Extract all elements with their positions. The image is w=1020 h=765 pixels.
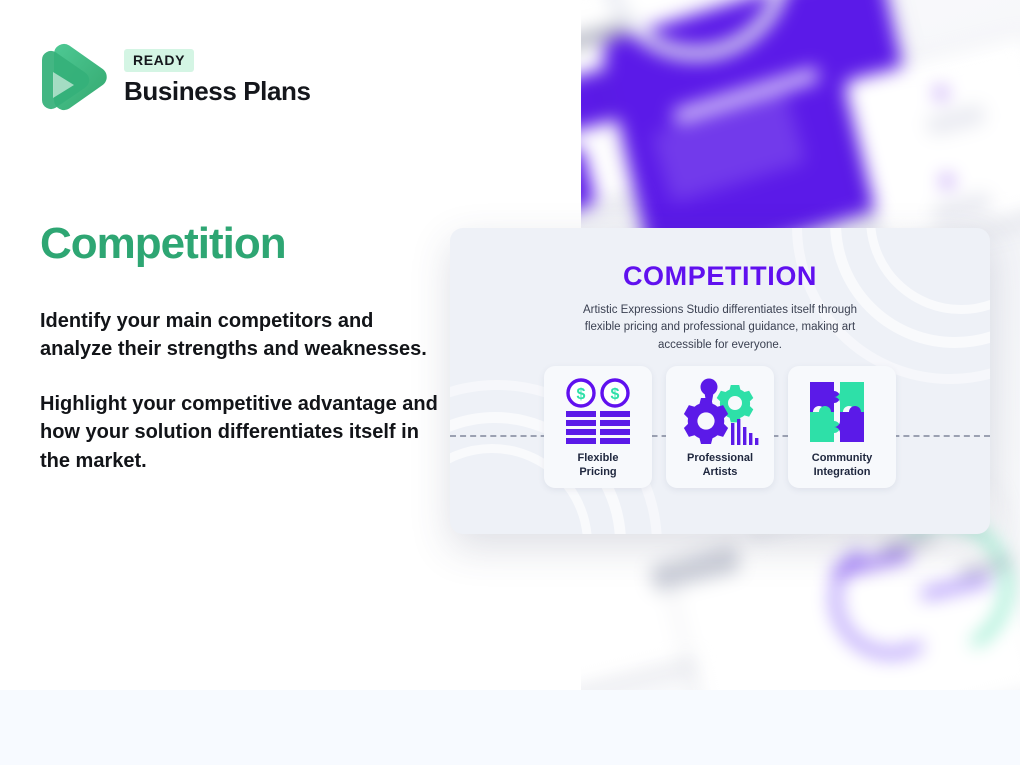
- page-title: Competition: [40, 219, 286, 269]
- brand-logo-text: READY Business Plans: [124, 49, 311, 107]
- brand-name: Business Plans: [124, 76, 311, 107]
- puzzle-pieces-icon: [806, 375, 878, 451]
- feature-card-professional-artists[interactable]: Professional Artists: [666, 366, 774, 488]
- label-line-2: Artists: [687, 466, 753, 480]
- feature-card-list: $ $ Flexible Pricing: [450, 366, 990, 488]
- label-line-2: Pricing: [578, 466, 619, 480]
- footer-band: [0, 690, 1020, 765]
- label-line-1: Community: [812, 452, 873, 466]
- label-line-1: Flexible: [578, 452, 619, 466]
- svg-text:$: $: [577, 386, 586, 403]
- slide-title: COMPETITION: [450, 261, 990, 292]
- feature-card-label: Community Integration: [812, 452, 873, 480]
- page-root: READY Business Plans Competition Identif…: [0, 0, 1020, 765]
- ready-badge: READY: [124, 49, 194, 72]
- slide-preview-card[interactable]: COMPETITION Artistic Expressions Studio …: [450, 228, 990, 534]
- label-line-2: Integration: [812, 466, 873, 480]
- feature-card-label: Professional Artists: [687, 452, 753, 480]
- feature-card-community-integration[interactable]: Community Integration: [788, 366, 896, 488]
- label-line-1: Professional: [687, 452, 753, 466]
- money-coins-stack-icon: $ $: [560, 375, 636, 451]
- description-paragraph-2: Highlight your competitive advantage and…: [40, 390, 440, 475]
- gears-lightbulb-chart-icon: [679, 375, 761, 451]
- page-description: Identify your main competitors and analy…: [40, 307, 440, 475]
- backdrop-dot: [942, 176, 952, 186]
- play-triangle-logo-icon: [40, 38, 108, 118]
- backdrop-dot: [936, 88, 946, 98]
- svg-text:$: $: [611, 386, 620, 403]
- description-paragraph-1: Identify your main competitors and analy…: [40, 307, 440, 364]
- slide-subtitle: Artistic Expressions Studio differentiat…: [570, 302, 870, 354]
- brand-logo[interactable]: READY Business Plans: [40, 38, 311, 118]
- feature-card-flexible-pricing[interactable]: $ $ Flexible Pricing: [544, 366, 652, 488]
- feature-card-label: Flexible Pricing: [578, 452, 619, 480]
